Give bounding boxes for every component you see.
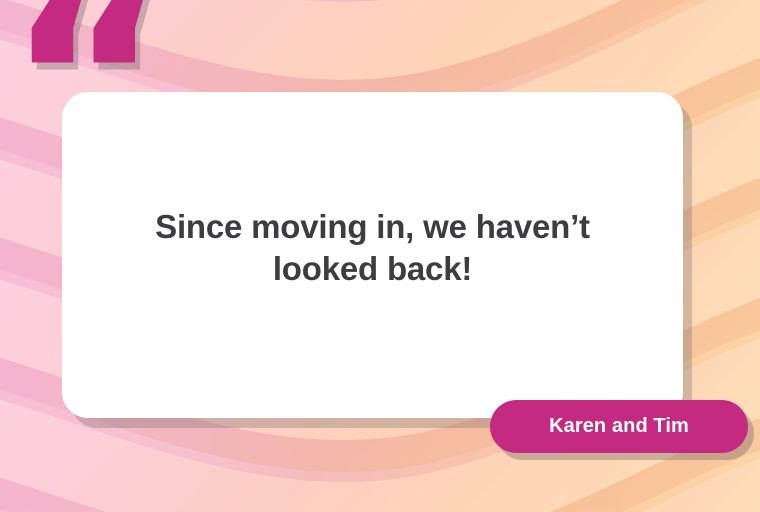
quotation-mark-icon: “ <box>6 0 164 206</box>
quote-text: Since moving in, we haven’t looked back! <box>114 206 631 290</box>
attribution-name: Karen and Tim <box>549 415 689 438</box>
attribution-pill: Karen and Tim <box>490 400 748 453</box>
testimonial-card-graphic: Since moving in, we haven’t looked back!… <box>0 0 760 512</box>
